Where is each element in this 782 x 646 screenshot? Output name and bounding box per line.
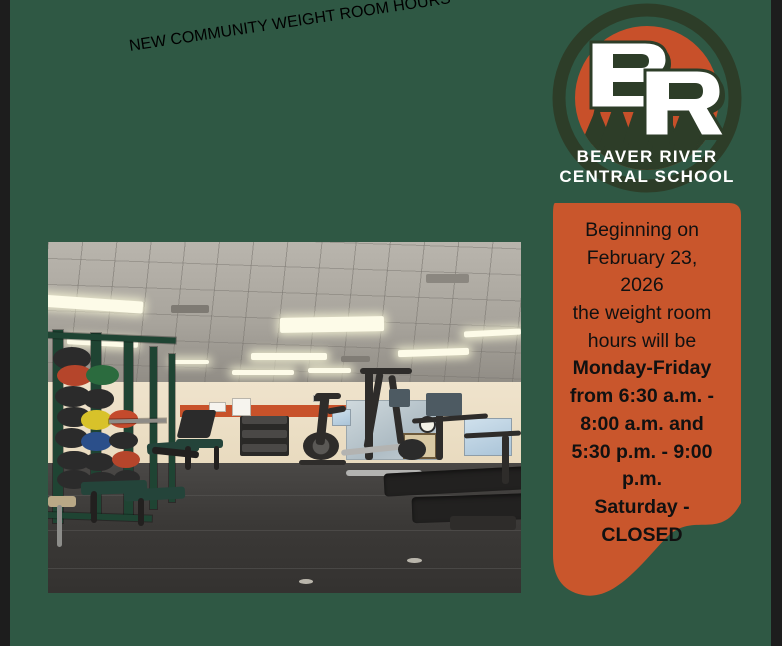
- elliptical-console: [389, 389, 410, 407]
- exercise-bike-base: [299, 460, 346, 466]
- weight-plate: [83, 453, 114, 471]
- dumbbell: [242, 444, 287, 452]
- hours-line: Beginning on: [551, 217, 733, 245]
- hours-line: p.m.: [551, 466, 733, 494]
- hours-line: 8:00 a.m. and: [551, 411, 733, 439]
- weight-plate: [109, 432, 137, 450]
- weight-rack-upright: [169, 354, 176, 501]
- exercise-bike-handlebar: [315, 393, 341, 399]
- dumbbell: [242, 416, 287, 424]
- ceiling-tile-grid: [48, 242, 521, 389]
- left-edge-strip: [0, 0, 10, 646]
- weight-room-photo: [48, 242, 521, 593]
- small-bench: [48, 496, 76, 507]
- wall-sign: [232, 398, 251, 416]
- hours-info-panel: Beginning onFebruary 23,2026the weight r…: [543, 203, 741, 603]
- headline-line-2: COMMUNITY: [169, 17, 269, 48]
- ceiling-vent: [426, 274, 469, 283]
- ceiling-vent: [171, 305, 209, 313]
- weight-plate: [81, 432, 112, 451]
- hours-line: hours will be: [551, 328, 733, 356]
- treadmill-motor-cover: [450, 516, 516, 530]
- weight-room-photo-scene: [48, 242, 521, 593]
- weight-plate: [83, 389, 114, 408]
- logo-svg: BEAVER RIVER CENTRAL SCHOOL: [545, 2, 750, 198]
- bench-leg: [185, 446, 191, 471]
- ceiling-light: [308, 368, 351, 373]
- headline-line-3: WEIGHT ROOM: [271, 0, 390, 34]
- dumbbell: [242, 430, 287, 438]
- bench-leg: [57, 505, 61, 547]
- ceiling-light: [171, 360, 209, 365]
- beaver-river-logo: BEAVER RIVER CENTRAL SCHOOL: [545, 2, 750, 198]
- headline-line-1: NEW: [128, 33, 167, 55]
- treadmill-console: [426, 393, 461, 416]
- hours-line: Saturday -: [551, 494, 733, 522]
- ceiling-light: [280, 317, 384, 334]
- hours-line: from 6:30 a.m. -: [551, 383, 733, 411]
- poster: NEW COMMUNITY WEIGHT ROOM HOURS: [0, 0, 782, 646]
- hours-line: 2026: [551, 272, 733, 300]
- elliptical-arm: [360, 368, 412, 374]
- hours-line: CLOSED: [551, 522, 733, 550]
- floor-seam: [48, 530, 521, 531]
- bench-leg: [214, 446, 220, 471]
- logo-name-line-1: BEAVER RIVER: [577, 147, 718, 166]
- hours-line: February 23,: [551, 245, 733, 273]
- bench-leg: [91, 491, 98, 523]
- ceiling-vent: [341, 356, 369, 362]
- right-edge-strip: [771, 0, 782, 646]
- ceiling-light: [251, 353, 327, 361]
- elliptical-flywheel-cover: [398, 439, 426, 460]
- poster-canvas: NEW COMMUNITY WEIGHT ROOM HOURS: [10, 0, 771, 646]
- hours-line: the weight room: [551, 300, 733, 328]
- floor-marking: [299, 579, 313, 584]
- floor-marking: [407, 558, 421, 563]
- bench-leg: [138, 498, 144, 526]
- headline-line-4: HOURS: [392, 0, 452, 15]
- weight-plate: [81, 410, 112, 429]
- hours-text-block: Beginning onFebruary 23,2026the weight r…: [543, 217, 741, 549]
- weight-plate: [86, 365, 119, 385]
- logo-name-line-2: CENTRAL SCHOOL: [559, 167, 734, 186]
- poster-headline: NEW COMMUNITY WEIGHT ROOM HOURS: [41, 0, 538, 69]
- floor-seam: [48, 568, 521, 569]
- weight-rack-upright: [150, 347, 158, 508]
- hours-line: Monday-Friday: [551, 355, 733, 383]
- ceiling-light: [232, 370, 293, 375]
- hours-line: 5:30 p.m. - 9:00: [551, 439, 733, 467]
- treadmill-upright: [502, 435, 509, 484]
